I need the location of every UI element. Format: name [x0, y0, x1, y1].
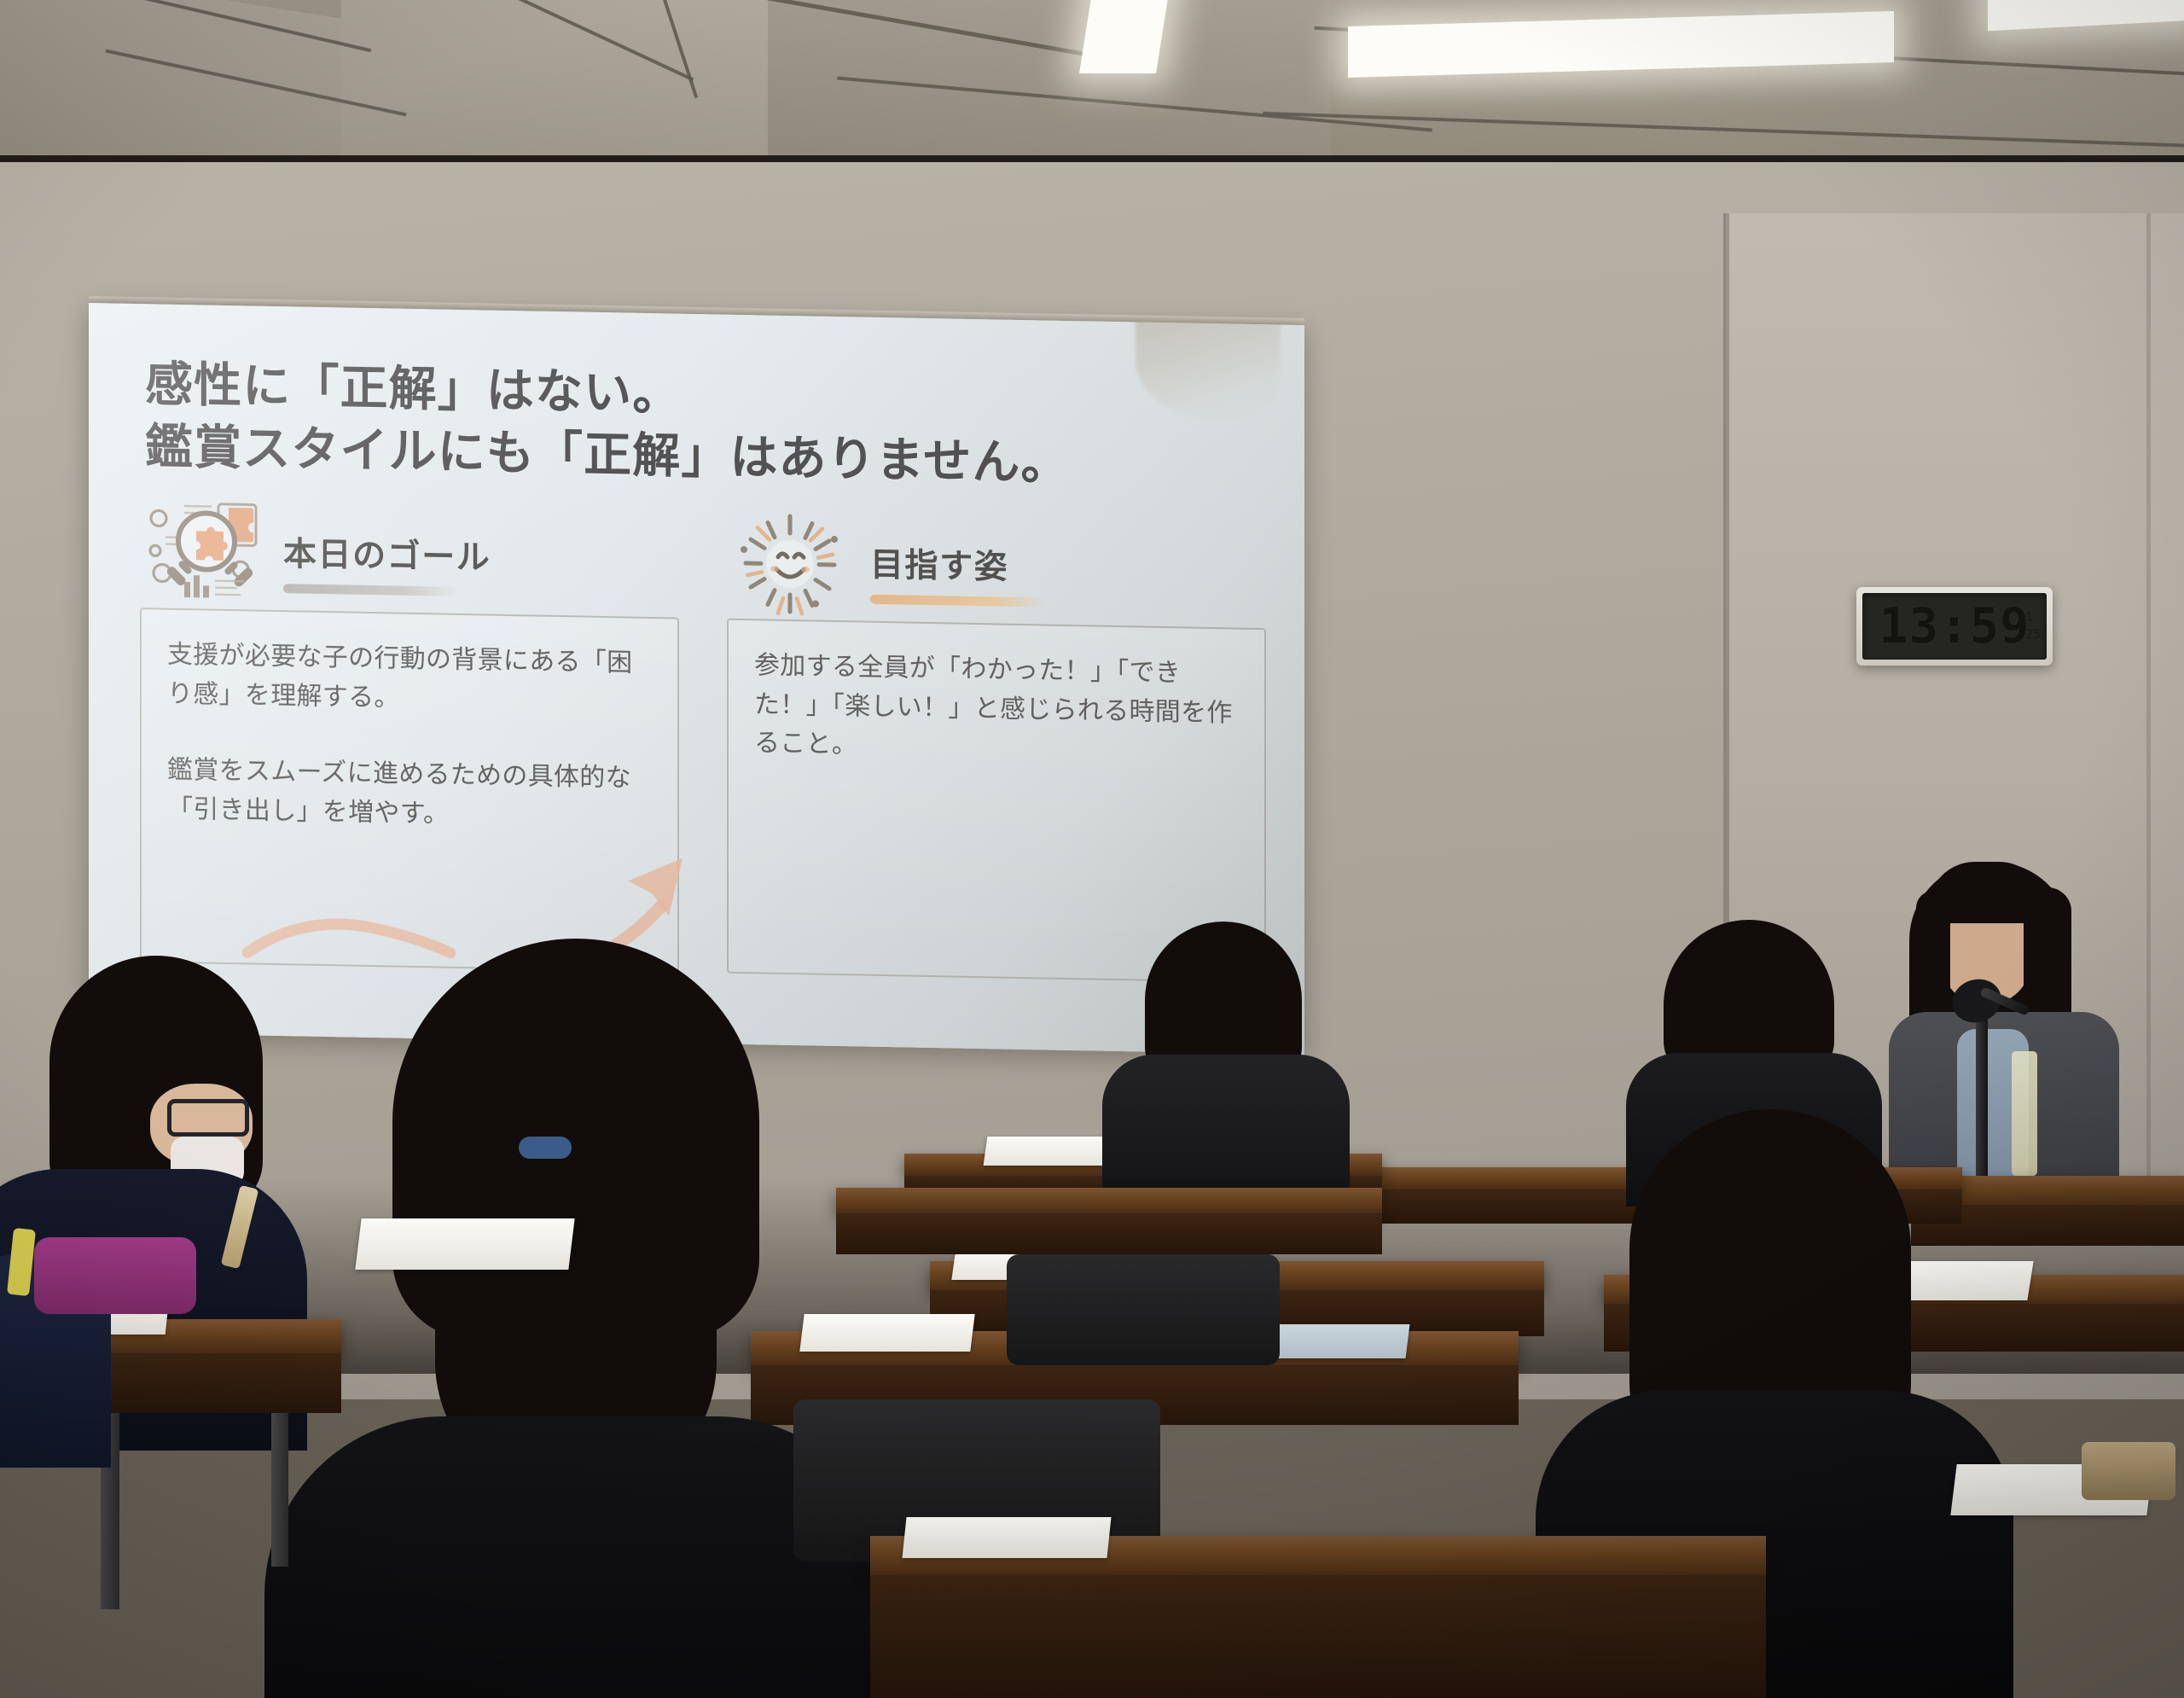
clock-secondary-readout: 1 25	[2025, 608, 2041, 643]
column-header-goal: 本日のゴール	[140, 502, 679, 614]
clock-lcd-panel: 13:59 1 25	[1862, 593, 2047, 660]
vision-paragraph-1: 参加する全員が「わかった！」「できた！」「楽しい！」と感じられる時間を作ること。	[754, 646, 1242, 771]
clock-sub-top: 1	[2025, 608, 2041, 625]
clock-sub-bottom: 25	[2025, 625, 2041, 643]
chair-right	[1007, 1254, 1280, 1365]
goal-paragraph-1: 支援が必要な子の行動の背景にある「困り感」を理解する。	[167, 636, 655, 723]
column-header-vision: 目指す姿	[727, 513, 1266, 625]
slide-title: 感性に「正解」はない。 鑑賞スタイルにも「正解」はありません。	[145, 353, 1203, 497]
attendee-center-ponytail	[282, 939, 896, 1698]
goal-paragraph-2: 鑑賞をスムーズに進めるための具体的な「引き出し」を増やす。	[167, 751, 655, 838]
lecture-room-photo: 感性に「正解」はない。 鑑賞スタイルにも「正解」はありません。	[0, 0, 2184, 1698]
smiling-sun-icon	[727, 509, 855, 622]
heading-rule-vision	[870, 594, 1045, 607]
desk-leg-left-2	[271, 1413, 288, 1567]
slide-columns: 本日のゴール 支援が必要な子の行動の背景にある「困り感」を理解する。 鑑賞をスム…	[140, 502, 1266, 1000]
small-object-on-desk	[2082, 1442, 2175, 1500]
heading-rule-goal	[283, 584, 458, 596]
paper-row-3-b	[984, 1137, 1109, 1166]
goal-text-box: 支援が必要な子の行動の背景にある「困り感」を理解する。 鑑賞をスムーズに進めるた…	[140, 608, 679, 973]
digital-wall-clock: 13:59 1 25	[1856, 587, 2053, 666]
magenta-garment	[34, 1237, 196, 1314]
glasses-icon	[167, 1099, 249, 1137]
column-heading-vision: 目指す姿	[870, 538, 1045, 589]
hair-tie	[519, 1137, 572, 1159]
clock-time: 13:59	[1879, 598, 2030, 654]
magnifier-puzzle-icon	[140, 497, 268, 611]
column-heading-goal: 本日のゴール	[283, 527, 491, 579]
desk-foreground-front	[870, 1575, 1766, 1698]
paper-front-left	[355, 1218, 574, 1270]
paper-center-2	[1261, 1324, 1410, 1358]
attendee-screen-center	[1118, 939, 1356, 1195]
slide-column-goal: 本日のゴール 支援が必要な子の行動の背景にある「困り感」を理解する。 鑑賞をスム…	[140, 502, 679, 990]
desk-mid-left-front	[836, 1213, 1382, 1254]
paper-foreground	[902, 1517, 1111, 1558]
